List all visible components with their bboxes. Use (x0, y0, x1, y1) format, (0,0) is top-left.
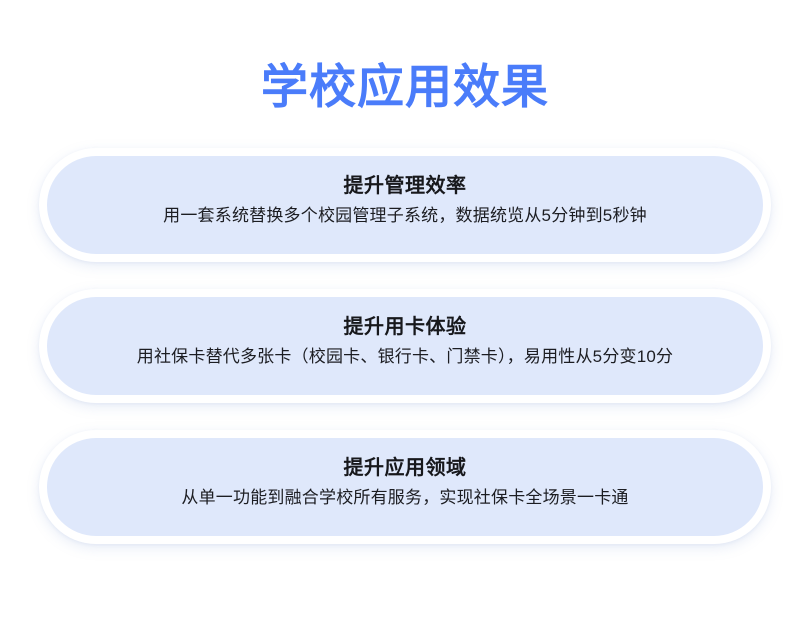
benefit-card-content: 提升应用领域 从单一功能到融合学校所有服务，实现社保卡全场景一卡通 (47, 438, 763, 536)
benefit-card: 提升用卡体验 用社保卡替代多张卡（校园卡、银行卡、门禁卡），易用性从5分变10分 (39, 289, 771, 403)
benefit-card-description: 用社保卡替代多张卡（校园卡、银行卡、门禁卡），易用性从5分变10分 (75, 342, 735, 372)
page-title: 学校应用效果 (0, 58, 810, 116)
benefit-card-description: 用一套系统替换多个校园管理子系统，数据统览从5分钟到5秒钟 (75, 201, 735, 231)
benefit-card-list: 提升管理效率 用一套系统替换多个校园管理子系统，数据统览从5分钟到5秒钟 提升用… (0, 148, 810, 571)
benefit-card-content: 提升管理效率 用一套系统替换多个校园管理子系统，数据统览从5分钟到5秒钟 (47, 156, 763, 254)
benefit-card-title: 提升应用领域 (75, 454, 735, 483)
benefit-card-content: 提升用卡体验 用社保卡替代多张卡（校园卡、银行卡、门禁卡），易用性从5分变10分 (47, 297, 763, 395)
benefit-card-title: 提升用卡体验 (75, 313, 735, 342)
benefit-card: 提升管理效率 用一套系统替换多个校园管理子系统，数据统览从5分钟到5秒钟 (39, 148, 771, 262)
page-root: 学校应用效果 提升管理效率 用一套系统替换多个校园管理子系统，数据统览从5分钟到… (0, 0, 810, 622)
benefit-card-title: 提升管理效率 (75, 172, 735, 201)
benefit-card: 提升应用领域 从单一功能到融合学校所有服务，实现社保卡全场景一卡通 (39, 430, 771, 544)
benefit-card-description: 从单一功能到融合学校所有服务，实现社保卡全场景一卡通 (75, 483, 735, 513)
